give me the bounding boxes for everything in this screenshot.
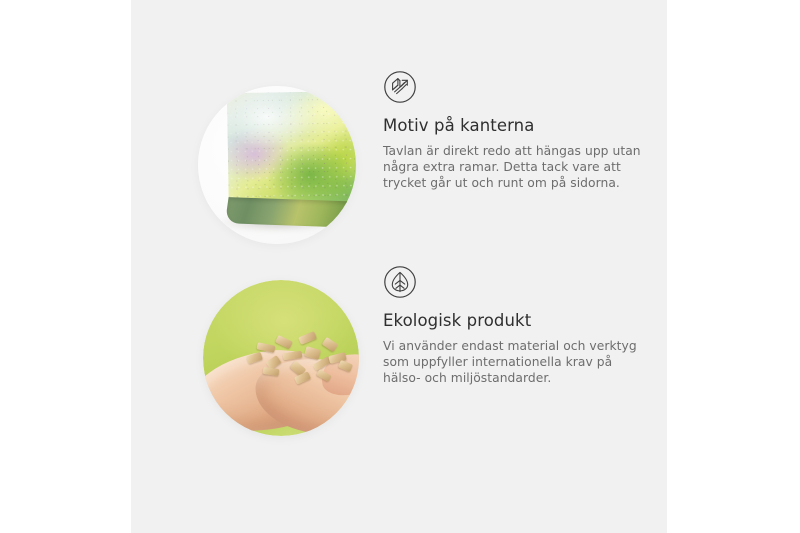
feature-text-column: Ekologisk produkt Vi använder endast mat… bbox=[383, 265, 651, 386]
feature-description: Tavlan är direkt redo att hängas upp uta… bbox=[383, 143, 651, 191]
wood-chip-pile bbox=[243, 328, 359, 390]
canvas-edge-print-icon bbox=[383, 70, 651, 104]
feature-title: Ekologisk produkt bbox=[383, 311, 651, 331]
feature-description: Vi använder endast material och verktyg … bbox=[383, 338, 651, 386]
feature-text-column: Motiv på kanterna Tavlan är direkt redo … bbox=[383, 70, 651, 191]
paint-speckle-texture bbox=[227, 91, 356, 205]
leaf-icon bbox=[383, 265, 651, 299]
eco-wood-chips-photo bbox=[203, 280, 359, 436]
infographic-canvas: Motiv på kanterna Tavlan är direkt redo … bbox=[0, 0, 800, 533]
canvas-side-edge bbox=[225, 197, 350, 227]
canvas-front-face bbox=[227, 91, 356, 205]
feature-row-ekologisk-produkt: Ekologisk produkt Vi använder endast mat… bbox=[131, 265, 667, 455]
feature-title: Motiv på kanterna bbox=[383, 116, 651, 136]
feature-row-motiv-pa-kanterna: Motiv på kanterna Tavlan är direkt redo … bbox=[131, 70, 667, 260]
canvas-print-photo bbox=[198, 86, 356, 244]
canvas-print-object bbox=[227, 91, 356, 233]
